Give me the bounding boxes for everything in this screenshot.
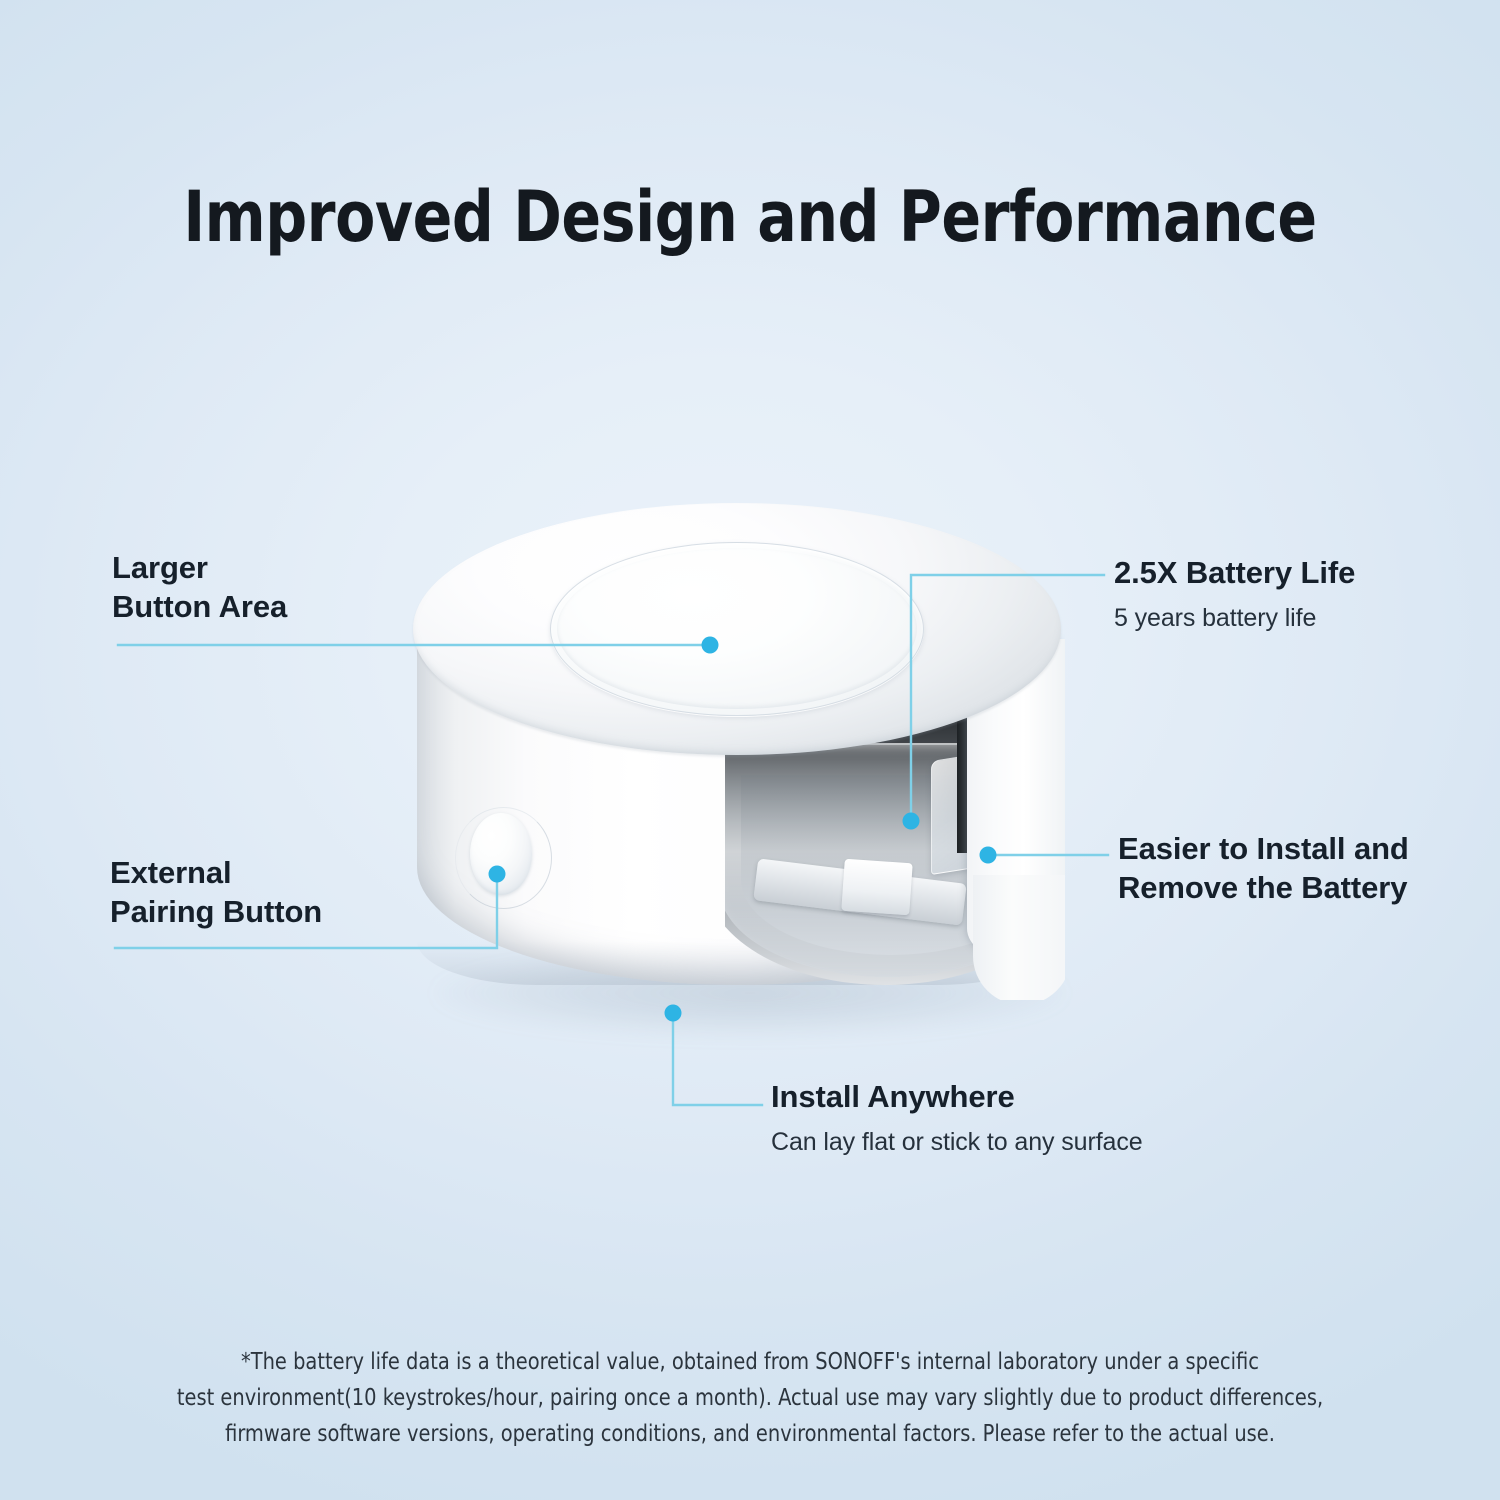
callout-easier-battery: Easier to Install and Remove the Battery [1118, 829, 1409, 907]
product-infographic: Improved Design and Performance [0, 0, 1500, 1500]
product-illustration [395, 495, 1095, 1055]
callout-easier-battery-heading: Easier to Install and Remove the Battery [1118, 829, 1409, 907]
battery-contact-clip [841, 859, 912, 916]
shell-outer-rim [973, 875, 1065, 1000]
callout-larger-button-heading: Larger Button Area [112, 548, 287, 626]
footnote-disclaimer: *The battery life data is a theoretical … [45, 1345, 1455, 1453]
callout-install-anywhere: Install Anywhere Can lay flat or stick t… [771, 1077, 1143, 1159]
callout-battery-life: 2.5X Battery Life 5 years battery life [1114, 553, 1355, 635]
external-pairing-button[interactable] [470, 813, 532, 895]
callout-external-pairing: External Pairing Button [110, 853, 322, 931]
callout-larger-button: Larger Button Area [112, 548, 287, 626]
page-title: Improved Design and Performance [53, 176, 1448, 258]
callout-external-pairing-heading: External Pairing Button [110, 853, 322, 931]
callout-battery-life-subtext: 5 years battery life [1114, 602, 1355, 635]
callout-battery-life-heading: 2.5X Battery Life [1114, 553, 1355, 592]
callout-install-anywhere-subtext: Can lay flat or stick to any surface [771, 1126, 1143, 1159]
top-press-button[interactable] [550, 542, 924, 716]
callout-install-anywhere-heading: Install Anywhere [771, 1077, 1143, 1116]
